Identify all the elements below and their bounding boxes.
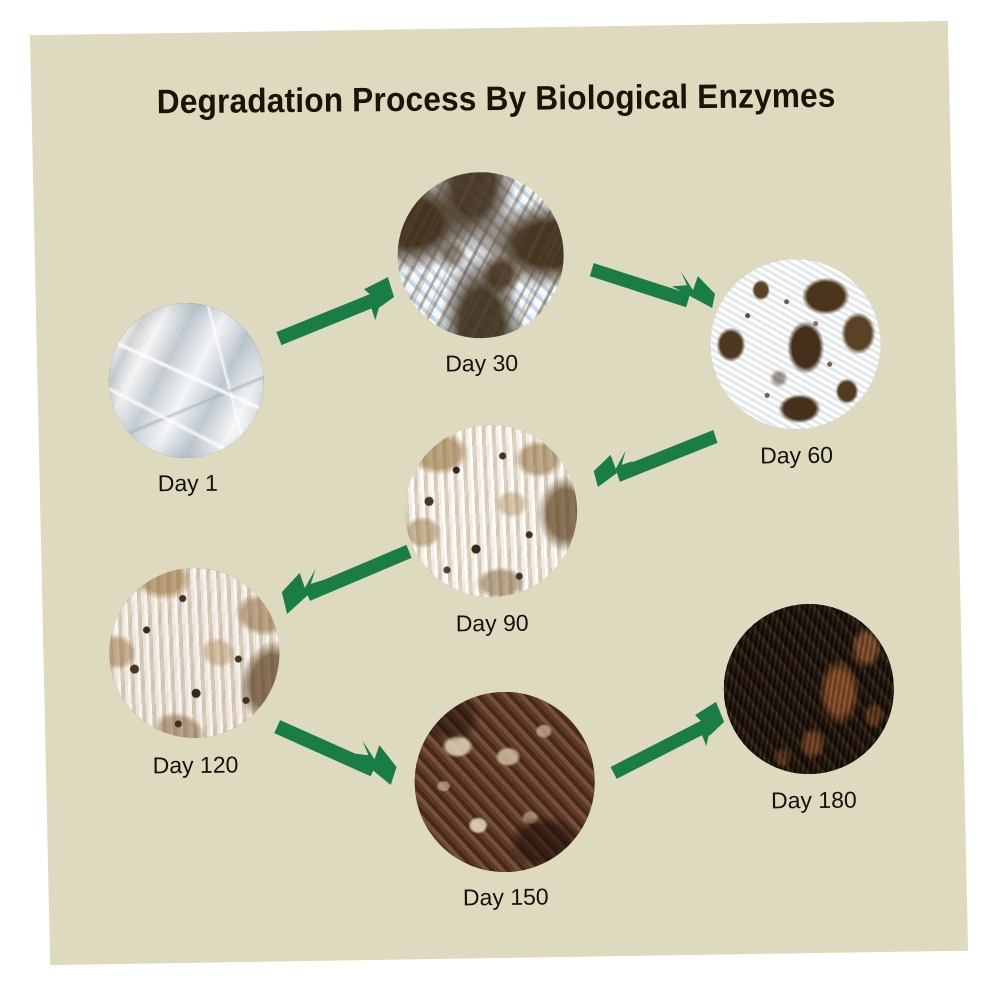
photo-layer-specks (109, 567, 281, 739)
photo-day-30 (397, 171, 565, 339)
node-day-30[interactable]: Day 30 (397, 171, 565, 339)
photo-day-90 (404, 424, 578, 598)
page-title: Degradation Process By Biological Enzyme… (31, 76, 961, 124)
node-day-120[interactable]: Day 120 (109, 567, 281, 739)
caption-day-30: Day 30 (362, 349, 602, 378)
arrow-day90-to-day120 (272, 539, 409, 628)
photo-day-60 (710, 258, 882, 430)
photo-layer-shadows (414, 691, 596, 873)
arrow-day60-to-day90 (585, 422, 716, 503)
photo-day-1 (108, 302, 264, 458)
photo-layer-creases (108, 302, 264, 458)
caption-day-150: Day 150 (386, 883, 626, 912)
node-day-180[interactable]: Day 180 (723, 603, 895, 775)
photo-layer-specks (710, 258, 882, 430)
caption-day-180: Day 180 (694, 786, 934, 815)
infographic-content: Degradation Process By Biological Enzyme… (0, 0, 1000, 1000)
photo-day-180 (723, 603, 895, 775)
node-day-1[interactable]: Day 1 (108, 302, 264, 458)
arrow-day30-to-day60 (594, 246, 720, 332)
arrow-day150-to-day180 (610, 698, 736, 781)
photo-layer-grain (723, 603, 895, 775)
node-day-90[interactable]: Day 90 (404, 424, 578, 598)
caption-day-1: Day 1 (68, 469, 308, 498)
arrow-day120-to-day150 (280, 709, 411, 795)
photo-layer-streaks (397, 171, 565, 339)
photo-layer-specks (404, 424, 578, 598)
arrow-day1-to-day30 (276, 273, 397, 354)
photo-day-150 (414, 691, 596, 873)
node-day-60[interactable]: Day 60 (710, 258, 882, 430)
photo-day-120 (109, 567, 281, 739)
node-day-150[interactable]: Day 150 (414, 691, 596, 873)
infographic-stage: Degradation Process By Biological Enzyme… (0, 0, 1000, 1000)
